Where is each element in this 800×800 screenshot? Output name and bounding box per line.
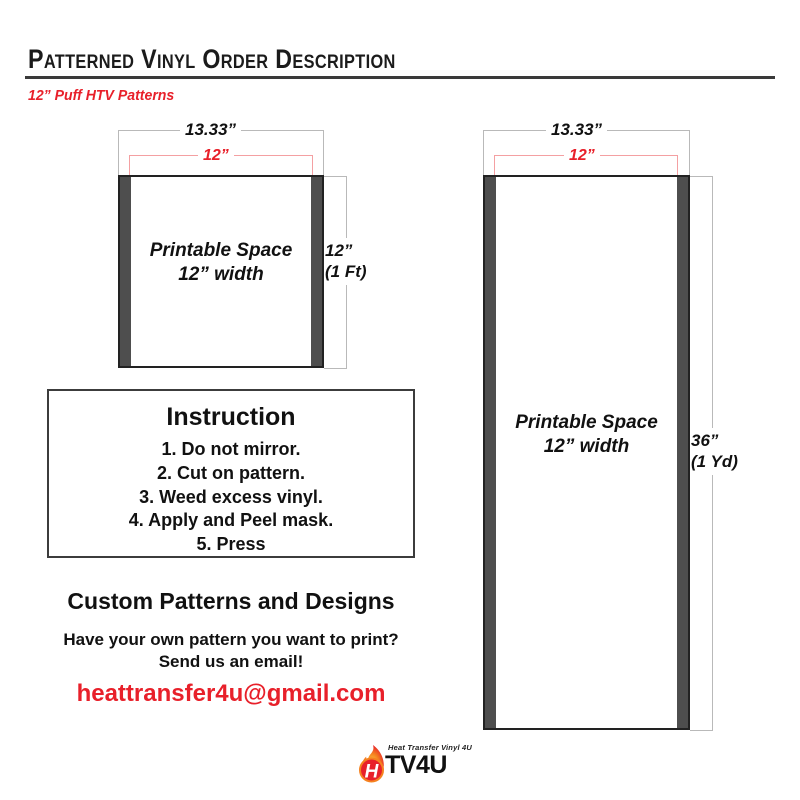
sheet-edge-left [485, 177, 496, 728]
instruction-list: 1. Do not mirror. 2. Cut on pattern. 3. … [49, 438, 413, 557]
dim-inner-left-tick [494, 155, 495, 177]
dim-inner-left-tick [129, 155, 130, 177]
svg-text:H: H [365, 762, 380, 783]
list-item: 4. Apply and Peel mask. [49, 509, 413, 533]
dim-label-inner-width: 12” [198, 147, 234, 165]
instruction-title: Instruction [49, 403, 413, 432]
dim-label-height: 12” (1 Ft) [322, 238, 370, 285]
dim-label-outer-width: 13.33” [180, 120, 241, 140]
dim-label-height: 36” (1 Yd) [688, 428, 741, 475]
dim-height-top-tick [324, 176, 347, 177]
list-item: 3. Weed excess vinyl. [49, 486, 413, 510]
dim-height-bottom-tick [324, 368, 347, 369]
contact-email-link[interactable]: heattransfer4u@gmail.com [47, 680, 415, 708]
vinyl-sheet: Printable Space 12” width [118, 175, 324, 368]
diagram-twelve-inch-yard: 13.33” 12” 36” (1 Yd) Printable Space 12… [400, 0, 800, 800]
order-description-page: Patterned Vinyl Order Description 12” Pu… [0, 0, 800, 800]
instruction-box: Instruction 1. Do not mirror. 2. Cut on … [47, 389, 415, 558]
custom-patterns-line1: Have your own pattern you want to print? [47, 630, 415, 650]
list-item: 1. Do not mirror. [49, 438, 413, 462]
dim-inner-right-tick [677, 155, 678, 177]
sheet-printable-label: Printable Space 12” width [131, 239, 311, 288]
list-item: 2. Cut on pattern. [49, 462, 413, 486]
dim-outer-right-tick [689, 130, 690, 176]
custom-patterns-line2: Send us an email! [47, 652, 415, 672]
dim-outer-left-tick [118, 130, 119, 176]
dim-height-top-tick [690, 176, 713, 177]
logo-wordmark: TV4U [385, 751, 447, 780]
dim-outer-left-tick [483, 130, 484, 176]
custom-patterns-heading: Custom Patterns and Designs [47, 588, 415, 615]
sheet-edge-right [677, 177, 688, 728]
dim-height-bottom-tick [690, 730, 713, 731]
list-item: 5. Press [49, 533, 413, 557]
vinyl-sheet: Printable Space 12” width [483, 175, 690, 730]
sheet-edge-right [311, 177, 322, 366]
sheet-edge-left [120, 177, 131, 366]
diagram-twelve-inch-foot: 13.33” 12” 12” (1 Ft) Printable Space 12… [0, 0, 400, 400]
dim-label-inner-width: 12” [564, 147, 600, 165]
sheet-printable-label: Printable Space 12” width [496, 411, 677, 460]
brand-logo: H Heat Transfer Vinyl 4U TV4U [352, 742, 392, 784]
dim-label-outer-width: 13.33” [546, 120, 607, 140]
dim-outer-right-tick [323, 130, 324, 176]
dim-inner-right-tick [312, 155, 313, 177]
